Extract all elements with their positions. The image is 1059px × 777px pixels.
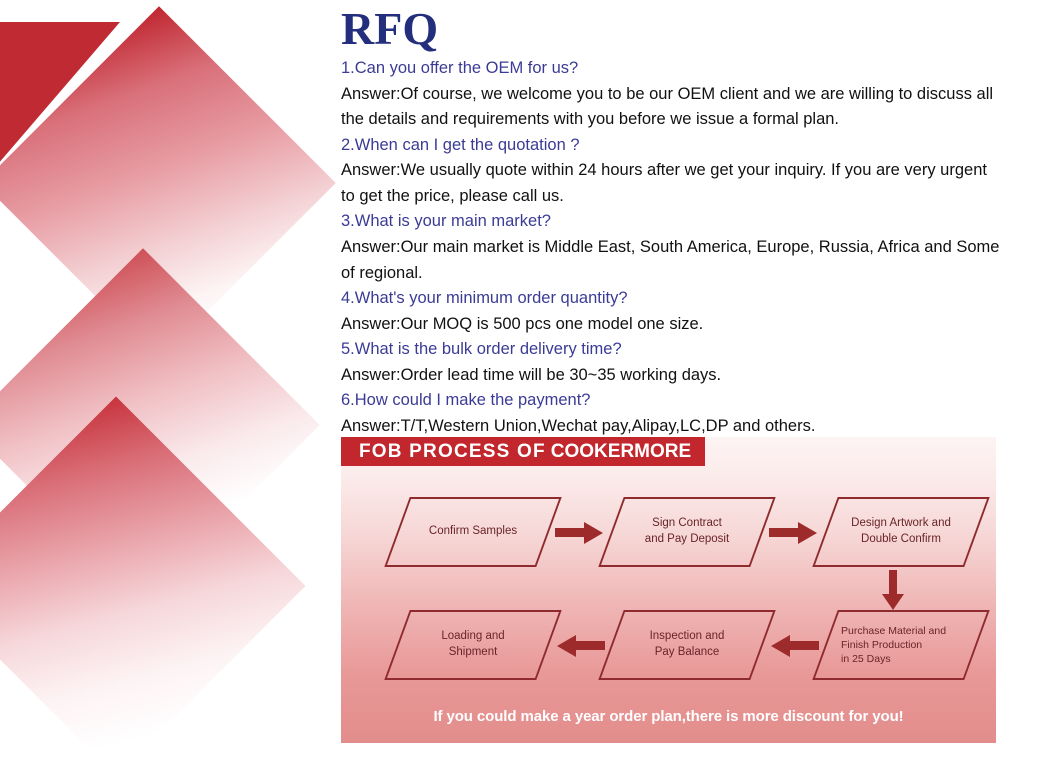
faq-answer: Answer:T/T,Western Union,Wechat pay,Alip…	[341, 414, 1001, 440]
faq-list: 1.Can you offer the OEM for us? Answer:O…	[341, 56, 1001, 439]
faq-item: 3.What is your main market? Answer:Our m…	[341, 209, 1001, 286]
process-step-inspection-pay-balance: Inspection and Pay Balance	[598, 610, 775, 680]
corner-triangle-shape	[0, 22, 120, 164]
faq-item: 4.What's your minimum order quantity? An…	[341, 286, 1001, 337]
faq-answer: Answer:Order lead time will be 30~35 wor…	[341, 363, 1001, 389]
faq-question: 4.What's your minimum order quantity?	[341, 286, 1001, 312]
faq-question: 3.What is your main market?	[341, 209, 1001, 235]
fob-footer-note: If you could make a year order plan,ther…	[341, 708, 996, 725]
process-step-purchase-material: Purchase Material and Finish Production …	[812, 610, 989, 680]
decorative-graphics	[0, 0, 340, 777]
process-step-confirm-samples: Confirm Samples	[384, 497, 561, 567]
diamond-shape-top	[0, 6, 336, 360]
process-step-line: Loading and	[441, 629, 504, 645]
process-step-label: Sign Contract and Pay Deposit	[613, 499, 761, 565]
diamond-shape-middle	[0, 248, 320, 602]
faq-question: 6.How could I make the payment?	[341, 388, 1001, 414]
process-step-line: Double Confirm	[861, 532, 941, 548]
process-step-line: and Pay Deposit	[645, 532, 729, 548]
process-step-label: Design Artwork and Double Confirm	[827, 499, 975, 565]
rfq-page: RFQ 1.Can you offer the OEM for us? Answ…	[0, 0, 1059, 777]
faq-answer: Answer:Our MOQ is 500 pcs one model one …	[341, 312, 1001, 338]
process-step-line: Inspection and	[650, 629, 725, 645]
process-step-line: Design Artwork and	[851, 516, 951, 532]
fob-process-diagram: FOB PROCESS OF COOKERMORE Confirm Sample…	[341, 437, 996, 743]
arrow-down-icon	[881, 570, 905, 610]
process-step-line: Shipment	[449, 645, 498, 661]
fob-banner-label-primary: FOB PROCESS OF	[359, 441, 546, 463]
process-step-line: Purchase Material and	[841, 624, 946, 638]
process-step-design-artwork: Design Artwork and Double Confirm	[812, 497, 989, 567]
rfq-content: RFQ 1.Can you offer the OEM for us? Answ…	[341, 0, 1001, 439]
process-row-top: Confirm Samples Sign Contract and Pay De…	[397, 497, 977, 567]
process-step-line: Confirm Samples	[429, 524, 517, 540]
faq-answer: Answer:We usually quote within 24 hours …	[341, 158, 1001, 209]
process-row-bottom: Loading and Shipment Inspection and Pay …	[397, 610, 977, 680]
process-step-label: Purchase Material and Finish Production …	[827, 612, 975, 678]
fob-banner-label-brand: COOKERMORE	[551, 441, 691, 463]
process-step-line: Pay Balance	[655, 645, 720, 661]
process-step-label: Confirm Samples	[399, 499, 547, 565]
process-step-label: Inspection and Pay Balance	[613, 612, 761, 678]
process-step-loading-shipment: Loading and Shipment	[384, 610, 561, 680]
faq-question: 2.When can I get the quotation ?	[341, 133, 1001, 159]
process-step-line: in 25 Days	[841, 652, 891, 666]
faq-question: 5.What is the bulk order delivery time?	[341, 337, 1001, 363]
page-title: RFQ	[341, 0, 1001, 52]
faq-question: 1.Can you offer the OEM for us?	[341, 56, 1001, 82]
faq-item: 1.Can you offer the OEM for us? Answer:O…	[341, 56, 1001, 133]
faq-item: 2.When can I get the quotation ? Answer:…	[341, 133, 1001, 210]
faq-item: 6.How could I make the payment? Answer:T…	[341, 388, 1001, 439]
process-step-sign-contract: Sign Contract and Pay Deposit	[598, 497, 775, 567]
fob-banner: FOB PROCESS OF COOKERMORE	[341, 437, 705, 466]
faq-item: 5.What is the bulk order delivery time? …	[341, 337, 1001, 388]
process-step-line: Finish Production	[841, 638, 922, 652]
faq-answer: Answer:Of course, we welcome you to be o…	[341, 82, 1001, 133]
faq-answer: Answer:Our main market is Middle East, S…	[341, 235, 1001, 286]
diamond-shape-bottom	[0, 396, 306, 775]
process-step-line: Sign Contract	[652, 516, 722, 532]
process-step-label: Loading and Shipment	[399, 612, 547, 678]
